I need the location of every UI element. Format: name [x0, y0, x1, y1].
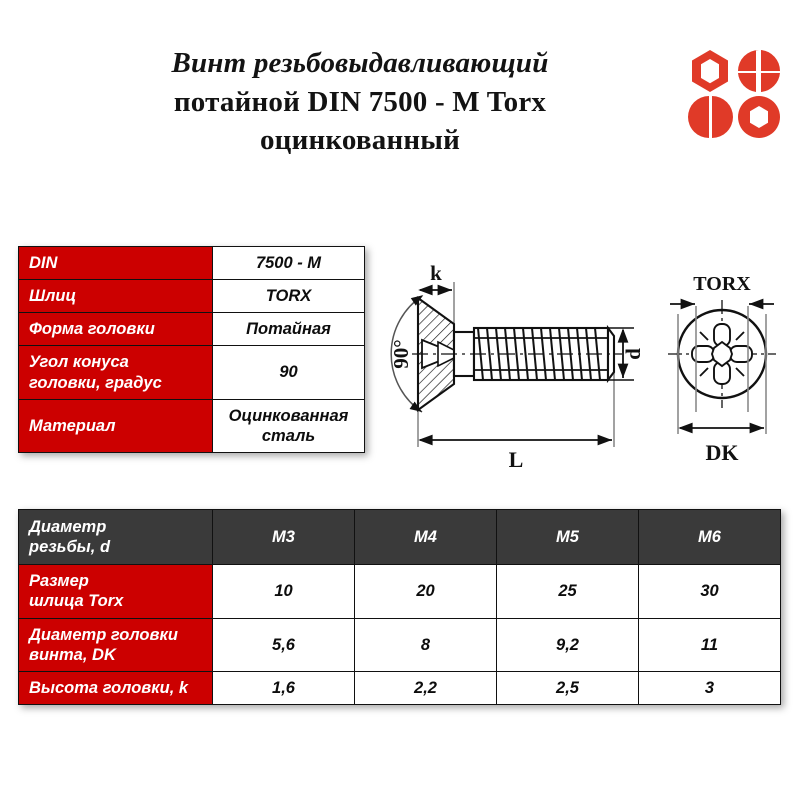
dim-header-m6: M6: [639, 510, 781, 565]
torx-label: TORX: [693, 273, 751, 295]
title-line-1: Винт резьбовыдавливающий: [60, 44, 660, 83]
dim-head-diameter-m5: 9,2: [497, 618, 639, 671]
spec-value-din: 7500 - M: [213, 247, 365, 280]
k-label: k: [430, 262, 442, 285]
table-row: Угол конусаголовки, градус 90: [19, 346, 365, 399]
dim-torx-size-m5: 25: [497, 565, 639, 618]
table-row: Материал Оцинкованнаясталь: [19, 399, 365, 452]
table-header-row: Диаметррезьбы, d M3 M4 M5 M6: [19, 510, 781, 565]
title-line-3: оцинкованный: [60, 121, 660, 160]
dim-head-height-m4: 2,2: [355, 671, 497, 704]
dim-torx-size-m3: 10: [213, 565, 355, 618]
dim-head-height-m3: 1,6: [213, 671, 355, 704]
dim-torx-size-m4: 20: [355, 565, 497, 618]
spec-label-din: DIN: [19, 247, 213, 280]
table-row: Высота головки, k 1,6 2,2 2,5 3: [19, 671, 781, 704]
page-title: Винт резьбовыдавливающий потайной DIN 75…: [60, 44, 660, 160]
spec-sheet-page: Винт резьбовыдавливающий потайной DIN 75…: [0, 0, 800, 800]
spec-label-material: Материал: [19, 399, 213, 452]
torx-head-end-view: TORX DK: [668, 273, 776, 465]
dim-head-height-m6: 3: [639, 671, 781, 704]
dim-head-height-m5: 2,5: [497, 671, 639, 704]
phillips-screw-icon: [738, 50, 780, 92]
spec-label-head-shape: Форма головки: [19, 313, 213, 346]
spec-value-drive: TORX: [213, 280, 365, 313]
specification-table: DIN 7500 - M Шлиц TORX Форма головки Пот…: [18, 246, 365, 453]
dim-label-torx-size: Размершлица Torx: [19, 565, 213, 618]
dim-label-head-diameter: Диаметр головкивинта, DK: [19, 618, 213, 671]
spec-label-cone-angle: Угол конусаголовки, градус: [19, 346, 213, 399]
dim-head-diameter-m6: 11: [639, 618, 781, 671]
table-row: Форма головки Потайная: [19, 313, 365, 346]
spec-value-cone-angle: 90: [213, 346, 365, 399]
countersunk-screw-side-view: 90° k d L: [389, 262, 645, 472]
dim-torx-size-m6: 30: [639, 565, 781, 618]
dk-label: DK: [706, 440, 739, 465]
length-label: L: [509, 447, 524, 472]
table-row: Размершлица Torx 10 20 25 30: [19, 565, 781, 618]
dim-header-m4: M4: [355, 510, 497, 565]
table-row: Диаметр головкивинта, DK 5,6 8 9,2 11: [19, 618, 781, 671]
spec-value-material: Оцинкованнаясталь: [213, 399, 365, 452]
title-line-2: потайной DIN 7500 - M Torx: [60, 83, 660, 122]
technical-drawing: 90° k d L: [382, 262, 792, 492]
dim-head-diameter-m3: 5,6: [213, 618, 355, 671]
hex-nut-icon: [692, 50, 728, 92]
d-label: d: [621, 348, 645, 360]
table-row: DIN 7500 - M: [19, 247, 365, 280]
dim-header-label: Диаметррезьбы, d: [19, 510, 213, 565]
spec-label-drive: Шлиц: [19, 280, 213, 313]
table-row: Шлиц TORX: [19, 280, 365, 313]
dim-label-head-height: Высота головки, k: [19, 671, 213, 704]
fastener-logo: [688, 46, 784, 142]
spec-value-head-shape: Потайная: [213, 313, 365, 346]
angle-label: 90°: [389, 339, 413, 368]
dim-head-diameter-m4: 8: [355, 618, 497, 671]
slotted-screw-icon: [688, 96, 733, 138]
dim-header-m3: M3: [213, 510, 355, 565]
dim-header-m5: M5: [497, 510, 639, 565]
dimensions-table: Диаметррезьбы, d M3 M4 M5 M6 Размершлица…: [18, 509, 781, 705]
hex-socket-screw-icon: [738, 96, 780, 138]
